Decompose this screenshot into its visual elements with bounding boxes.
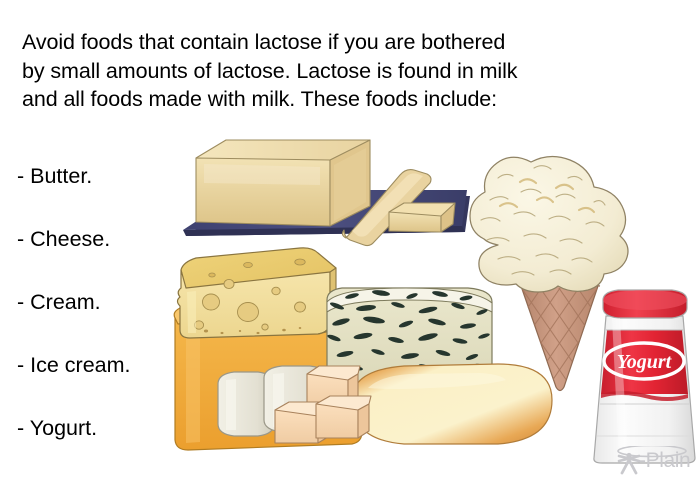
list-item-butter: - Butter.: [17, 163, 207, 226]
heading-line-3: and all foods made with milk. These food…: [22, 85, 682, 114]
x-plain-logo: -Plain: [612, 446, 698, 476]
x-plain-logo-text: -Plain: [639, 449, 690, 473]
butter-block: [196, 140, 370, 226]
heading-line-2: by small amounts of lactose. Lactose is …: [22, 57, 682, 86]
list-item-ice-cream: - Ice cream.: [17, 352, 207, 415]
gouda-cheese: [352, 364, 552, 444]
butter-tray: [183, 190, 470, 236]
list-item-cream: - Cream.: [17, 289, 207, 352]
cheese-cubes: [275, 366, 371, 443]
yogurt-container: Yogurt: [594, 290, 695, 463]
butter-slice: [342, 170, 431, 246]
illustration-page: Avoid foods that contain lactose if you …: [0, 0, 700, 480]
heading-line-1: Avoid foods that contain lactose if you …: [22, 28, 682, 57]
blue-cheese-wheel: [327, 288, 492, 383]
ice-cream-cone: [470, 156, 644, 400]
butter-pat: [389, 203, 455, 232]
yogurt-label-text: Yogurt: [617, 351, 673, 373]
food-list: - Butter. - Cheese. - Cream. - Ice cream…: [17, 163, 207, 478]
list-item-cheese: - Cheese.: [17, 226, 207, 289]
page-heading: Avoid foods that contain lactose if you …: [22, 28, 682, 114]
white-cheese-rounds: [218, 366, 328, 436]
list-item-yogurt: - Yogurt.: [17, 415, 207, 478]
